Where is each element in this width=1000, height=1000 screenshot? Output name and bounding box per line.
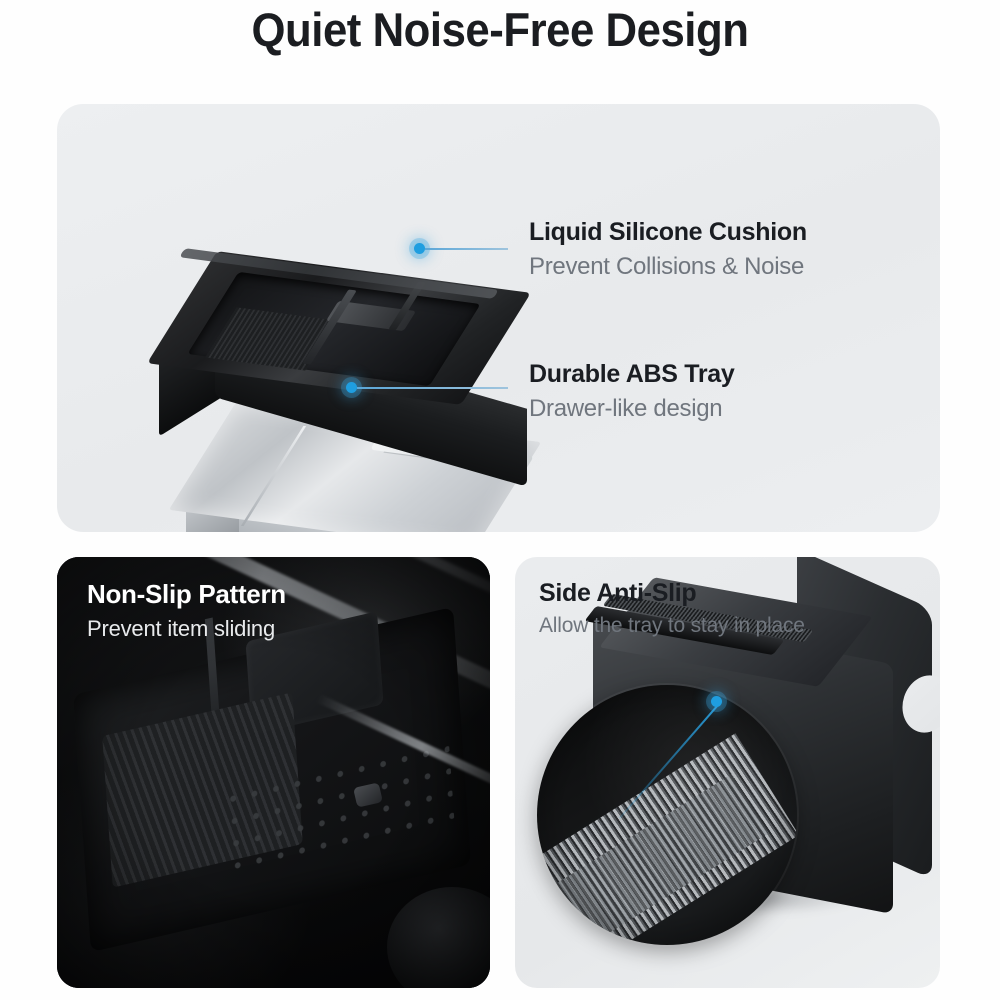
- callout-title: Durable ABS Tray: [529, 360, 734, 389]
- panel-non-slip-pattern: Non-Slip Pattern Prevent item sliding: [57, 557, 490, 988]
- infographic-page: Quiet Noise-Free Design: [0, 0, 1000, 1000]
- caption-subtitle: Prevent item sliding: [87, 616, 286, 642]
- callout-line-silicone: [425, 248, 508, 250]
- callout-subtitle: Drawer-like design: [529, 395, 734, 423]
- caption-subtitle: Allow the tray to stay in place: [539, 614, 805, 638]
- caption-side-anti-slip: Side Anti-Slip Allow the tray to stay in…: [539, 579, 805, 638]
- callout-subtitle: Prevent Collisions & Noise: [529, 253, 807, 281]
- page-title: Quiet Noise-Free Design: [35, 2, 965, 57]
- panel-exploded-product: [57, 104, 940, 532]
- callout-durable-abs-tray: Durable ABS Tray Drawer-like design: [529, 360, 734, 423]
- caption-title: Side Anti-Slip: [539, 579, 805, 608]
- product-stage: [57, 104, 940, 532]
- callout-line-abs: [357, 387, 508, 389]
- callout-title: Liquid Silicone Cushion: [529, 218, 807, 247]
- black-silicone-cushion-image: [157, 272, 529, 472]
- magnified-anti-slip-inset: [537, 685, 797, 945]
- callout-marker-silicone: [414, 243, 425, 254]
- magnified-inset-shading: [537, 685, 797, 945]
- callout-marker-side-anti-slip: [711, 696, 722, 707]
- callout-marker-abs: [346, 382, 357, 393]
- callout-liquid-silicone-cushion: Liquid Silicone Cushion Prevent Collisio…: [529, 218, 807, 281]
- caption-non-slip-pattern: Non-Slip Pattern Prevent item sliding: [87, 579, 286, 642]
- caption-title: Non-Slip Pattern: [87, 579, 286, 610]
- panel-side-anti-slip: Side Anti-Slip Allow the tray to stay in…: [515, 557, 940, 988]
